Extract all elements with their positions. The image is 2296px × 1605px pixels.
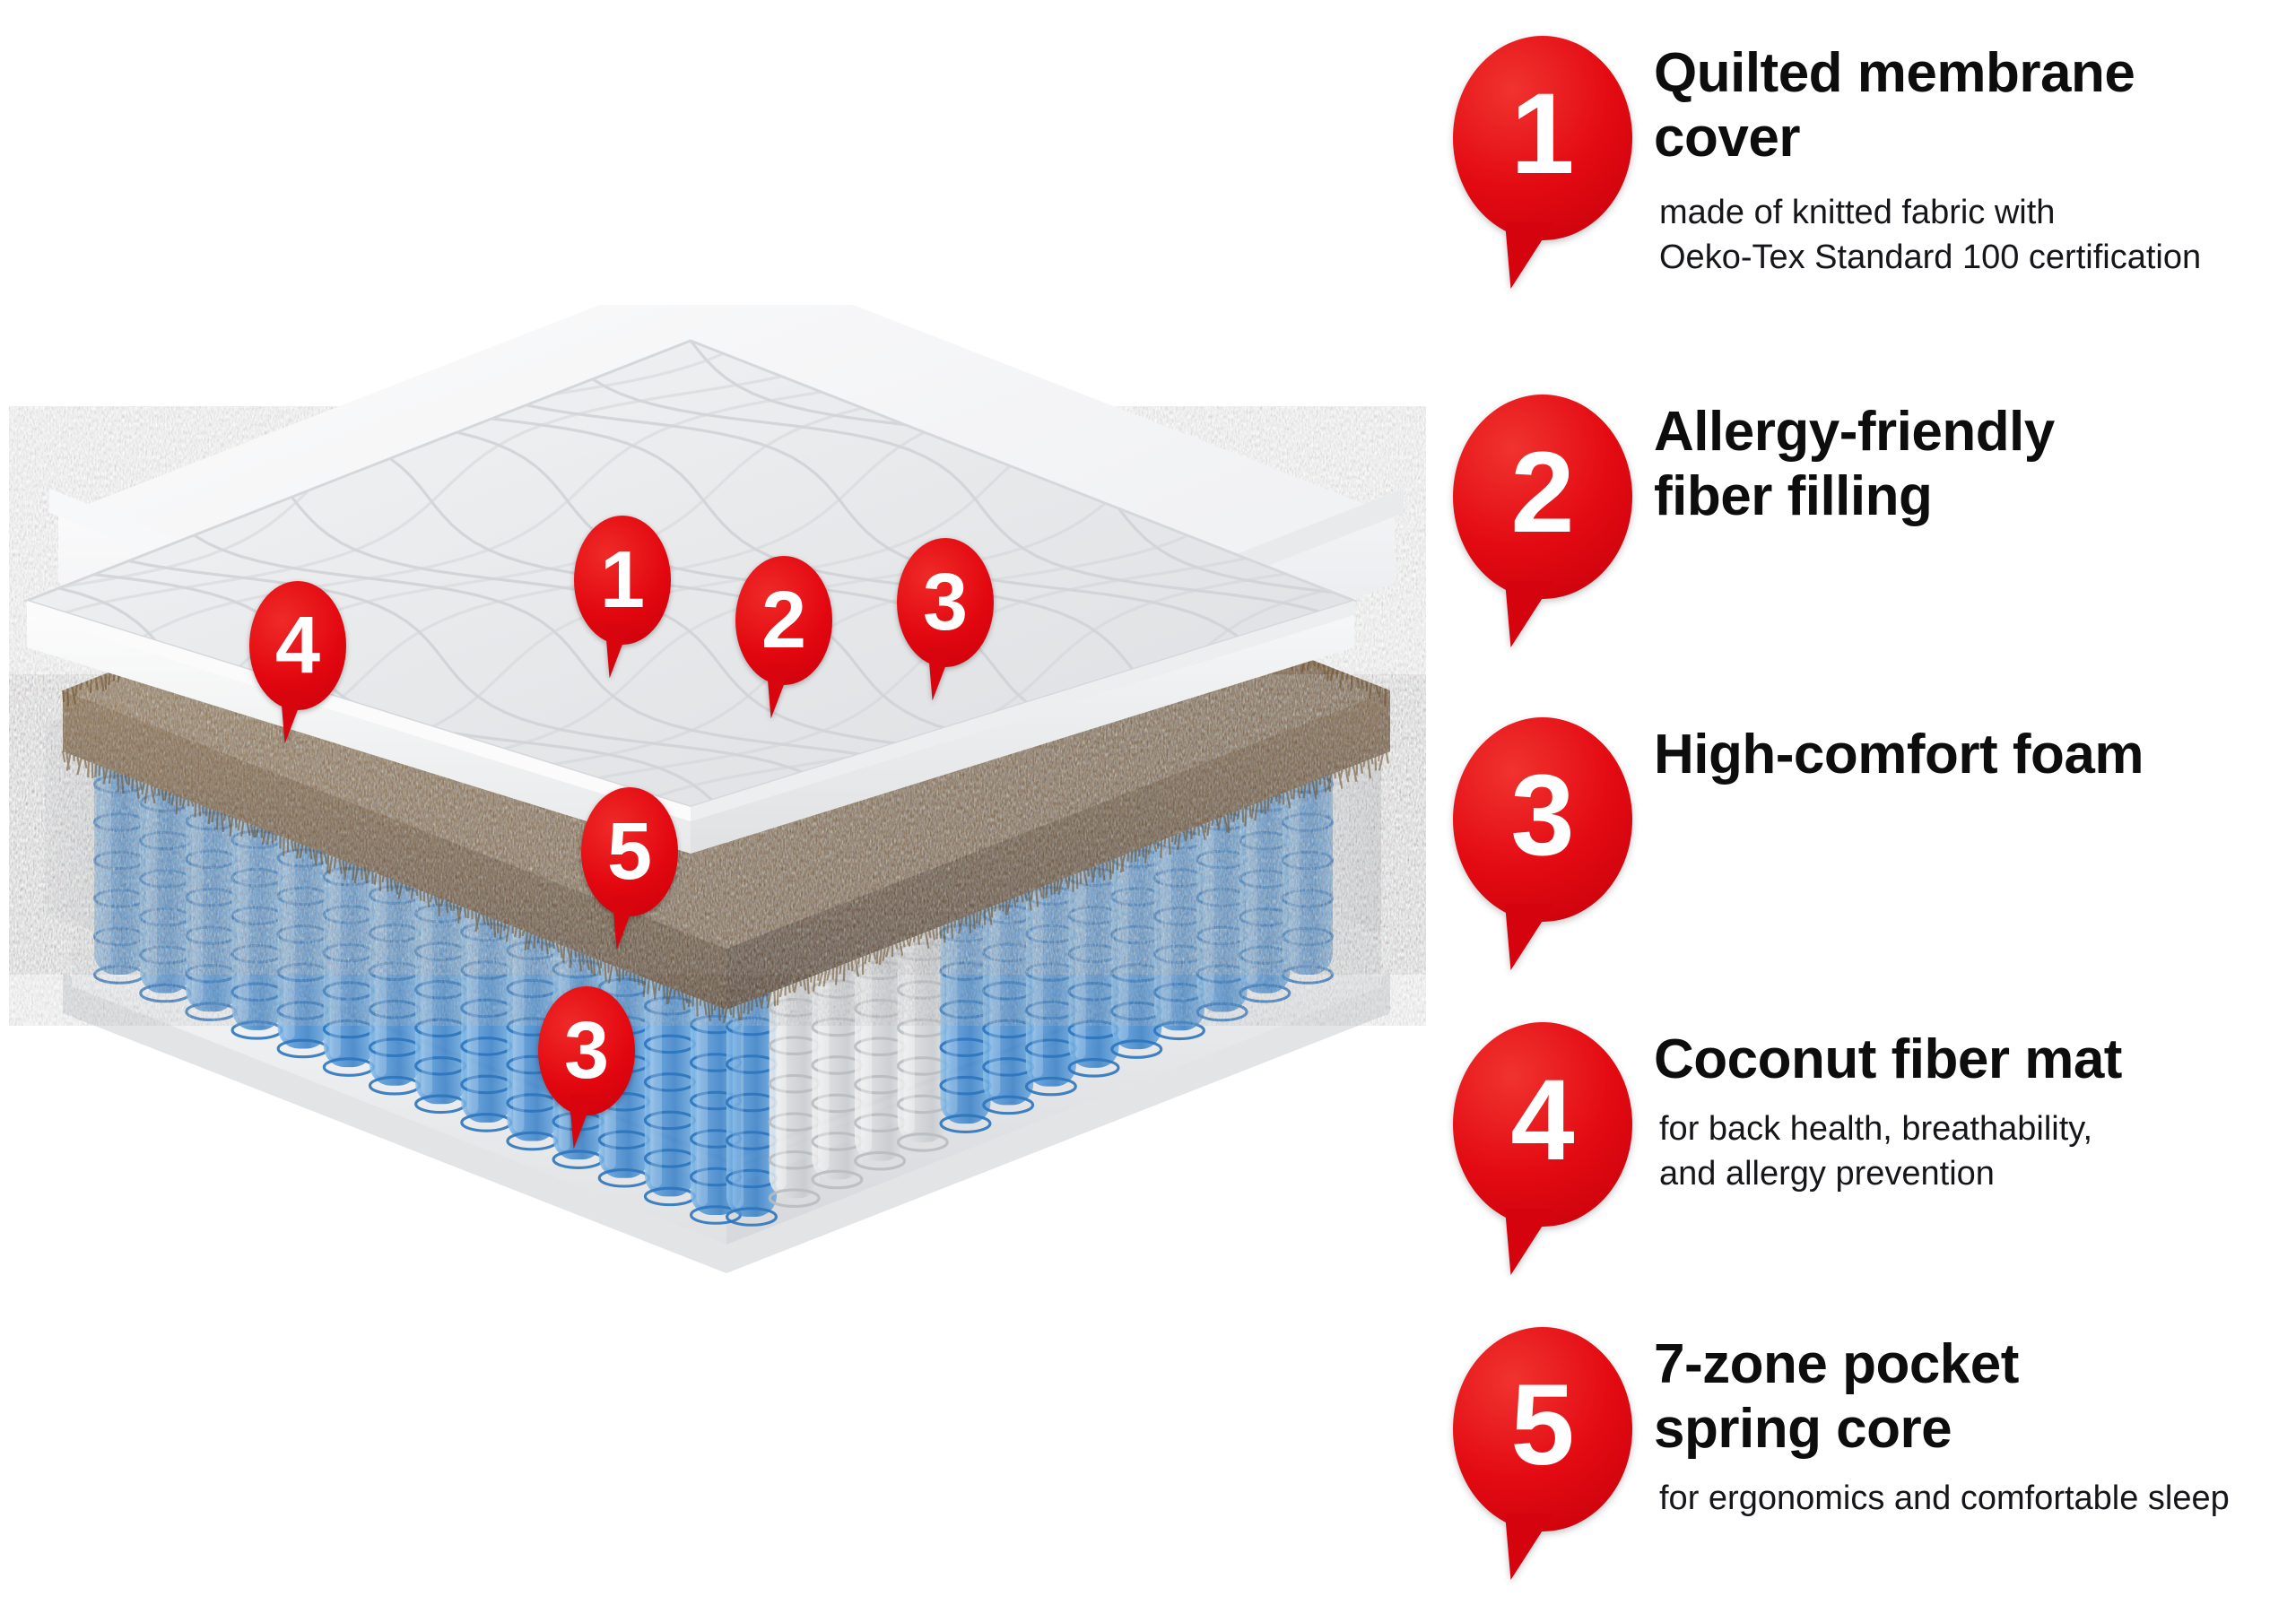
legend-title-line: fiber filling [1654, 464, 2296, 529]
legend-subtitle-line: Oeko-Tex Standard 100 certification [1659, 235, 2296, 280]
illustration-marker-4[interactable]: 4 [249, 581, 346, 710]
legend-title-line: Quilted membrane [1654, 41, 2296, 106]
legend-pin-2: 2 [1453, 395, 1632, 632]
legend-title-5: 7-zone pocket spring core [1654, 1332, 2296, 1462]
legend-number-1: 1 [1510, 77, 1574, 192]
legend-pin-3: 3 [1453, 717, 1632, 955]
legend-text-5: 7-zone pocket spring core for ergonomics… [1654, 1327, 2296, 1565]
legend-item-5[interactable]: 5 7-zone pocket spring core for ergonomi… [1453, 1327, 2296, 1565]
legend-number-5: 5 [1510, 1368, 1574, 1483]
illustration-marker-3-base[interactable]: 3 [538, 986, 635, 1115]
legend-title-4: Coconut fiber mat [1654, 1028, 2296, 1092]
infographic-canvas: 1 2 3 4 5 3 1 Quilted membrane cover [0, 0, 2296, 1605]
legend-subtitle-line: and allergy prevention [1659, 1151, 2296, 1196]
legend-list: 1 Quilted membrane cover made of knitted… [1453, 0, 2296, 1605]
legend-pin-4: 4 [1453, 1022, 1632, 1260]
legend-number-3: 3 [1510, 759, 1574, 873]
illustration-marker-3-top[interactable]: 3 [897, 538, 994, 667]
legend-subtitle-line: for ergonomics and comfortable sleep [1659, 1476, 2296, 1521]
legend-text-2: Allergy-friendly fiber filling [1654, 395, 2296, 632]
legend-text-4: Coconut fiber mat for back health, breat… [1654, 1022, 2296, 1260]
legend-text-3: High-comfort foam [1654, 717, 2296, 955]
legend-title-line: High-comfort foam [1654, 723, 2296, 787]
illustration-marker-2[interactable]: 2 [735, 556, 832, 685]
legend-title-line: Coconut fiber mat [1654, 1028, 2296, 1092]
mattress-illustration: 1 2 3 4 5 3 [0, 0, 1435, 1076]
legend-subtitle-line: for back health, breathability, [1659, 1106, 2296, 1151]
legend-pin-5: 5 [1453, 1327, 1632, 1565]
legend-title-line: cover [1654, 106, 2296, 170]
legend-subtitle-line: made of knitted fabric with [1659, 190, 2296, 235]
legend-subtitle-5: for ergonomics and comfortable sleep [1659, 1476, 2296, 1521]
legend-item-4[interactable]: 4 Coconut fiber mat for back health, bre… [1453, 1022, 2296, 1260]
legend-text-1: Quilted membrane cover made of knitted f… [1654, 36, 2296, 280]
illustration-marker-1[interactable]: 1 [574, 516, 671, 645]
legend-item-3[interactable]: 3 High-comfort foam [1453, 717, 2296, 955]
illustration-marker-5[interactable]: 5 [581, 787, 678, 916]
legend-title-2: Allergy-friendly fiber filling [1654, 400, 2296, 529]
legend-title-line: Allergy-friendly [1654, 400, 2296, 464]
legend-title-line: spring core [1654, 1397, 2296, 1462]
legend-subtitle-1: made of knitted fabric with Oeko-Tex Sta… [1659, 190, 2296, 280]
legend-item-1[interactable]: 1 Quilted membrane cover made of knitted… [1453, 36, 2296, 280]
legend-title-1: Quilted membrane cover [1654, 41, 2296, 170]
legend-title-line: 7-zone pocket [1654, 1332, 2296, 1397]
legend-title-3: High-comfort foam [1654, 723, 2296, 787]
legend-item-2[interactable]: 2 Allergy-friendly fiber filling [1453, 395, 2296, 632]
legend-subtitle-4: for back health, breathability, and alle… [1659, 1106, 2296, 1196]
mattress-exploded-view-svg [9, 305, 1426, 1363]
legend-pin-1: 1 [1453, 36, 1632, 273]
legend-number-2: 2 [1510, 436, 1574, 551]
legend-number-4: 4 [1510, 1063, 1574, 1178]
